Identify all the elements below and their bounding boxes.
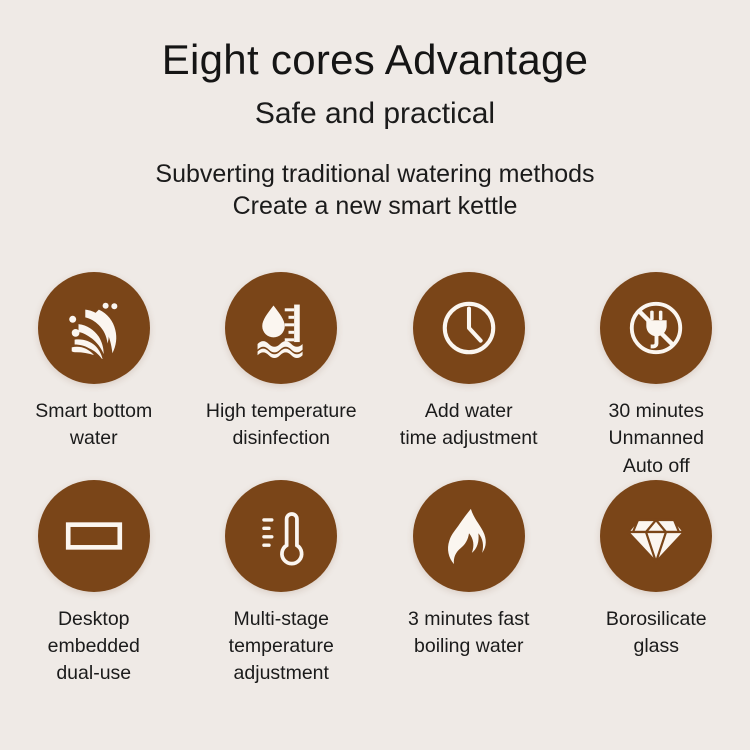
feature-badge <box>38 272 150 384</box>
caption-line: water <box>35 425 152 452</box>
caption-line: 30 minutes <box>609 398 704 425</box>
caption-line: Unmanned <box>609 425 704 452</box>
caption-line: High temperature <box>206 398 357 425</box>
caption-line: temperature <box>229 633 334 660</box>
promo-poster: Eight cores Advantage Safe and practical… <box>0 0 750 750</box>
caption-line: embedded <box>48 633 140 660</box>
feature-caption: Desktop embedded dual-use <box>48 606 140 688</box>
feature-item: Smart bottom water <box>0 272 188 480</box>
water-drop-gauge-icon <box>251 298 311 358</box>
feature-item: Borosilicate glass <box>563 480 750 688</box>
page-subtitle: Safe and practical <box>0 97 750 132</box>
caption-line: time adjustment <box>400 425 538 452</box>
caption-line: disinfection <box>206 425 357 452</box>
feature-badge <box>38 480 150 592</box>
flame-icon <box>439 506 499 566</box>
caption-line: dual-use <box>48 660 140 687</box>
feature-caption: 30 minutes Unmanned Auto off <box>609 398 704 480</box>
feature-item: 30 minutes Unmanned Auto off <box>563 272 750 480</box>
feature-badge <box>413 272 525 384</box>
tagline-line-1: Subverting traditional watering methods <box>155 160 594 188</box>
feature-item: High temperature disinfection <box>188 272 376 480</box>
water-splash-icon <box>63 297 125 359</box>
feature-caption: High temperature disinfection <box>206 398 357 453</box>
caption-line: boiling water <box>408 633 529 660</box>
feature-badge <box>600 272 712 384</box>
feature-badge <box>225 480 337 592</box>
feature-badge <box>413 480 525 592</box>
header: Eight cores Advantage Safe and practical… <box>0 0 750 223</box>
feature-grid: Smart bottom water <box>0 272 750 688</box>
feature-item: Add water time adjustment <box>375 272 563 480</box>
caption-line: Smart bottom <box>35 398 152 425</box>
rectangle-panel-icon <box>61 503 127 569</box>
feature-caption: Add water time adjustment <box>400 398 538 453</box>
clock-icon <box>438 297 500 359</box>
diamond-icon <box>624 504 688 568</box>
feature-item: Multi-stage temperature adjustment <box>188 480 376 688</box>
tagline-line-2: Create a new smart kettle <box>0 190 750 223</box>
page-title: Eight cores Advantage <box>0 36 750 83</box>
caption-line: 3 minutes fast <box>408 606 529 633</box>
feature-item: Desktop embedded dual-use <box>0 480 188 688</box>
caption-line: glass <box>606 633 707 660</box>
caption-line: Auto off <box>609 453 704 480</box>
feature-caption: Smart bottom water <box>35 398 152 453</box>
feature-item: 3 minutes fast boiling water <box>375 480 563 688</box>
tagline: Subverting traditional watering methods … <box>0 158 750 223</box>
caption-line: Add water <box>400 398 538 425</box>
feature-badge <box>225 272 337 384</box>
caption-line: Borosilicate <box>606 606 707 633</box>
feature-caption: Borosilicate glass <box>606 606 707 661</box>
caption-line: Desktop <box>48 606 140 633</box>
caption-line: adjustment <box>229 660 334 687</box>
caption-line: Multi-stage <box>229 606 334 633</box>
feature-caption: 3 minutes fast boiling water <box>408 606 529 661</box>
feature-caption: Multi-stage temperature adjustment <box>229 606 334 688</box>
feature-badge <box>600 480 712 592</box>
no-power-plug-icon <box>625 297 687 359</box>
thermometer-icon <box>251 506 311 566</box>
